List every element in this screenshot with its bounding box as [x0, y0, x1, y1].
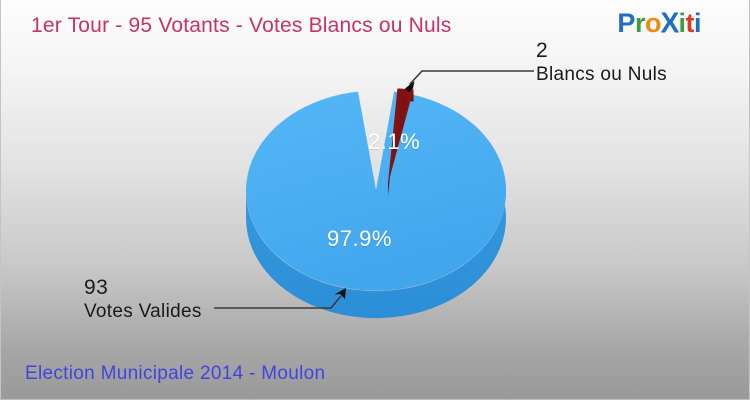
callout-valides-count: 93	[84, 276, 202, 301]
logo-letter-t: t	[685, 10, 694, 37]
callout-blancs-ou-nuls: 2 Blancs ou Nuls	[536, 39, 667, 86]
slice-percent-votes-valides: 97.9%	[327, 226, 392, 252]
logo-letter-x: X	[661, 9, 679, 37]
logo-letter-i1: i	[678, 10, 685, 37]
callout-valides-label: Votes Valides	[84, 301, 202, 323]
pie-slice-top-votes-valides	[246, 92, 506, 291]
page-title: 1er Tour - 95 Votants - Votes Blancs ou …	[31, 14, 451, 38]
callout-blancs-label: Blancs ou Nuls	[536, 64, 667, 86]
logo-letter-i2: i	[694, 10, 701, 37]
callout-arrow-valides	[335, 288, 347, 299]
chart-footer-caption: Election Municipale 2014 - Moulon	[25, 363, 325, 385]
callout-arrow-blancs	[405, 81, 415, 93]
callout-blancs-count: 2	[536, 39, 667, 64]
callout-votes-valides: 93 Votes Valides	[84, 276, 202, 323]
proxiti-logo[interactable]: ProXiti	[617, 10, 701, 37]
slice-percent-blancs-ou-nuls: 2.1%	[368, 129, 420, 155]
callout-leader-valides	[214, 288, 346, 308]
callout-leader-blancs	[405, 71, 534, 93]
logo-letter-p: P	[617, 10, 635, 37]
logo-letter-r: r	[635, 10, 645, 37]
logo-letter-o: o	[645, 10, 661, 37]
chart-canvas: 1er Tour - 95 Votants - Votes Blancs ou …	[0, 0, 750, 400]
